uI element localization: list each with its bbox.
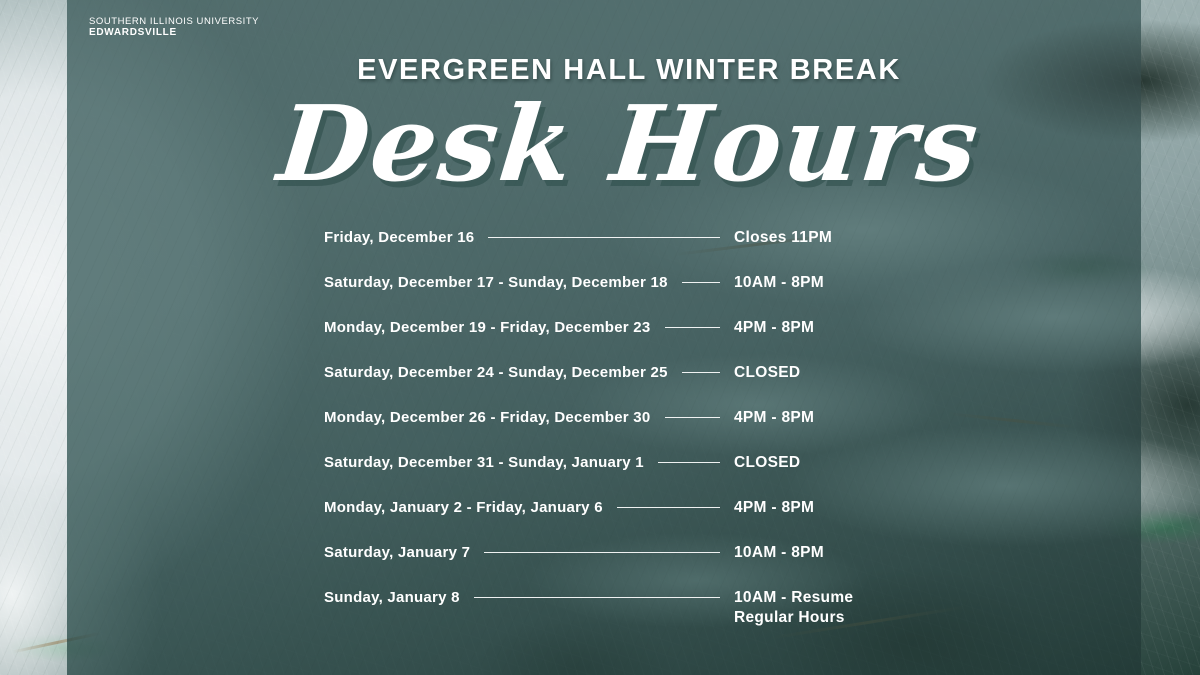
schedule-row: Saturday, December 17 - Sunday, December… bbox=[324, 273, 884, 318]
schedule-row-connector-line bbox=[488, 237, 720, 238]
logo-university-line: SOUTHERN ILLINOIS UNIVERSITY bbox=[89, 16, 259, 27]
schedule-row-hours: 10AM - 8PM bbox=[734, 273, 884, 293]
schedule-row: Friday, December 16Closes 11PM bbox=[324, 228, 884, 273]
schedule-row-connector-line bbox=[682, 282, 720, 283]
schedule-row-hours: 4PM - 8PM bbox=[734, 318, 884, 338]
schedule-row-connector-line bbox=[658, 462, 720, 463]
schedule-row-connector-line bbox=[617, 507, 720, 508]
schedule-row-date: Saturday, December 31 - Sunday, January … bbox=[324, 453, 644, 470]
schedule-row-date: Saturday, December 24 - Sunday, December… bbox=[324, 363, 668, 380]
schedule-row: Monday, December 26 - Friday, December 3… bbox=[324, 408, 884, 453]
schedule-row: Monday, December 19 - Friday, December 2… bbox=[324, 318, 884, 363]
schedule-row-connector-line bbox=[682, 372, 720, 373]
schedule-row-date: Sunday, January 8 bbox=[324, 588, 460, 605]
schedule-row-date: Monday, December 26 - Friday, December 3… bbox=[324, 408, 651, 425]
schedule-row: Saturday, January 710AM - 8PM bbox=[324, 543, 884, 588]
schedule-row: Monday, January 2 - Friday, January 64PM… bbox=[324, 498, 884, 543]
siue-logo: SOUTHERN ILLINOIS UNIVERSITY EDWARDSVILL… bbox=[89, 16, 259, 39]
schedule-row-date: Monday, January 2 - Friday, January 6 bbox=[324, 498, 603, 515]
schedule-row-connector-line bbox=[484, 552, 720, 553]
schedule-row-date: Saturday, December 17 - Sunday, December… bbox=[324, 273, 668, 290]
schedule-row-hours: CLOSED bbox=[734, 363, 884, 383]
schedule-row-date: Friday, December 16 bbox=[324, 228, 474, 245]
schedule-row-hours: Closes 11PM bbox=[734, 228, 884, 248]
schedule-row-hours: 4PM - 8PM bbox=[734, 408, 884, 428]
schedule-row-connector-line bbox=[474, 597, 720, 598]
schedule-row-date: Monday, December 19 - Friday, December 2… bbox=[324, 318, 651, 335]
desk-hours-schedule: Friday, December 16Closes 11PMSaturday, … bbox=[324, 228, 884, 633]
schedule-row-hours: 10AM - 8PM bbox=[734, 543, 884, 563]
logo-campus-line: EDWARDSVILLE bbox=[89, 27, 259, 39]
winter-break-hours-poster: SOUTHERN ILLINOIS UNIVERSITY EDWARDSVILL… bbox=[0, 0, 1200, 675]
schedule-row-hours: 4PM - 8PM bbox=[734, 498, 884, 518]
poster-title: Desk Hours bbox=[52, 88, 1200, 200]
schedule-row-connector-line bbox=[665, 327, 721, 328]
schedule-row-hours: CLOSED bbox=[734, 453, 884, 473]
schedule-row-hours: 10AM - Resume Regular Hours bbox=[734, 588, 884, 628]
schedule-row-connector-line bbox=[665, 417, 721, 418]
schedule-row: Saturday, December 31 - Sunday, January … bbox=[324, 453, 884, 498]
schedule-row: Saturday, December 24 - Sunday, December… bbox=[324, 363, 884, 408]
schedule-row: Sunday, January 810AM - Resume Regular H… bbox=[324, 588, 884, 633]
schedule-row-date: Saturday, January 7 bbox=[324, 543, 470, 560]
